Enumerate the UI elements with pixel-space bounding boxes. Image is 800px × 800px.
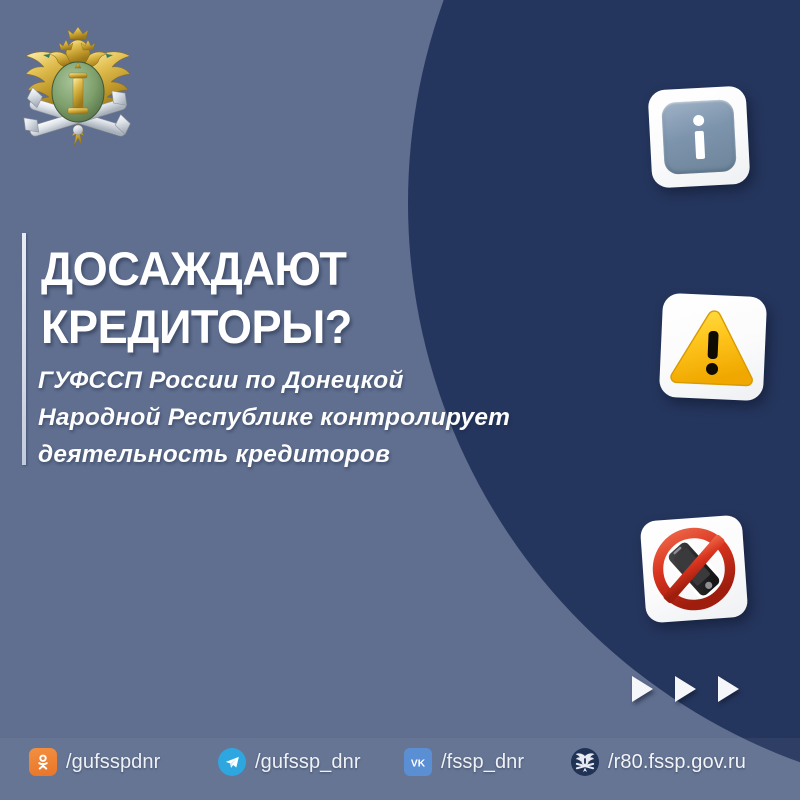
telegram-handle: /gufssp_dnr [255, 751, 361, 774]
subtitle-line-3: деятельность кредиторов [38, 436, 658, 473]
social-link-vk[interactable]: VK /fssp_dnr [404, 748, 524, 776]
headline-line-1: ДОСАЖДАЮТ [41, 240, 617, 298]
website-handle: /r80.fssp.gov.ru [608, 751, 746, 774]
subtitle-line-2: Народной Республике контролирует [38, 399, 658, 436]
poster-canvas: ДОСАЖДАЮТ КРЕДИТОРЫ? ГУФССП России по До… [0, 0, 800, 800]
social-link-website[interactable]: /r80.fssp.gov.ru [571, 748, 746, 776]
fssp-emblem-icon [571, 748, 599, 776]
social-link-telegram[interactable]: /gufssp_dnr [218, 748, 361, 776]
no-phone-call-icon-card [640, 515, 749, 624]
play-arrow-icon-3 [718, 676, 739, 702]
fssp-coat-of-arms [14, 24, 142, 154]
warning-icon [659, 293, 767, 401]
subtitle-line-1: ГУФССП России по Донецкой [38, 362, 658, 399]
info-icon-stem [695, 131, 705, 159]
no-phone-call-icon [640, 515, 749, 624]
headline-line-2: КРЕДИТОРЫ? [41, 298, 617, 356]
page-subtitle: ГУФССП России по Донецкой Народной Респу… [38, 362, 658, 473]
heading-accent-bar [22, 233, 26, 465]
page-title: ДОСАЖДАЮТ КРЕДИТОРЫ? [41, 240, 641, 356]
info-icon [661, 99, 737, 175]
telegram-icon [218, 748, 246, 776]
info-icon-card [648, 86, 751, 189]
vk-icon: VK [404, 748, 432, 776]
vk-handle: /fssp_dnr [441, 751, 524, 774]
info-icon-dot [693, 115, 705, 127]
social-link-odnoklassniki[interactable]: /gufsspdnr [29, 748, 160, 776]
play-arrow-group [632, 676, 739, 702]
warning-icon-card [659, 293, 767, 401]
play-arrow-icon-1 [632, 676, 653, 702]
play-arrow-icon-2 [675, 676, 696, 702]
odnoklassniki-handle: /gufsspdnr [66, 751, 160, 774]
odnoklassniki-icon [29, 748, 57, 776]
svg-text:VK: VK [411, 758, 426, 769]
